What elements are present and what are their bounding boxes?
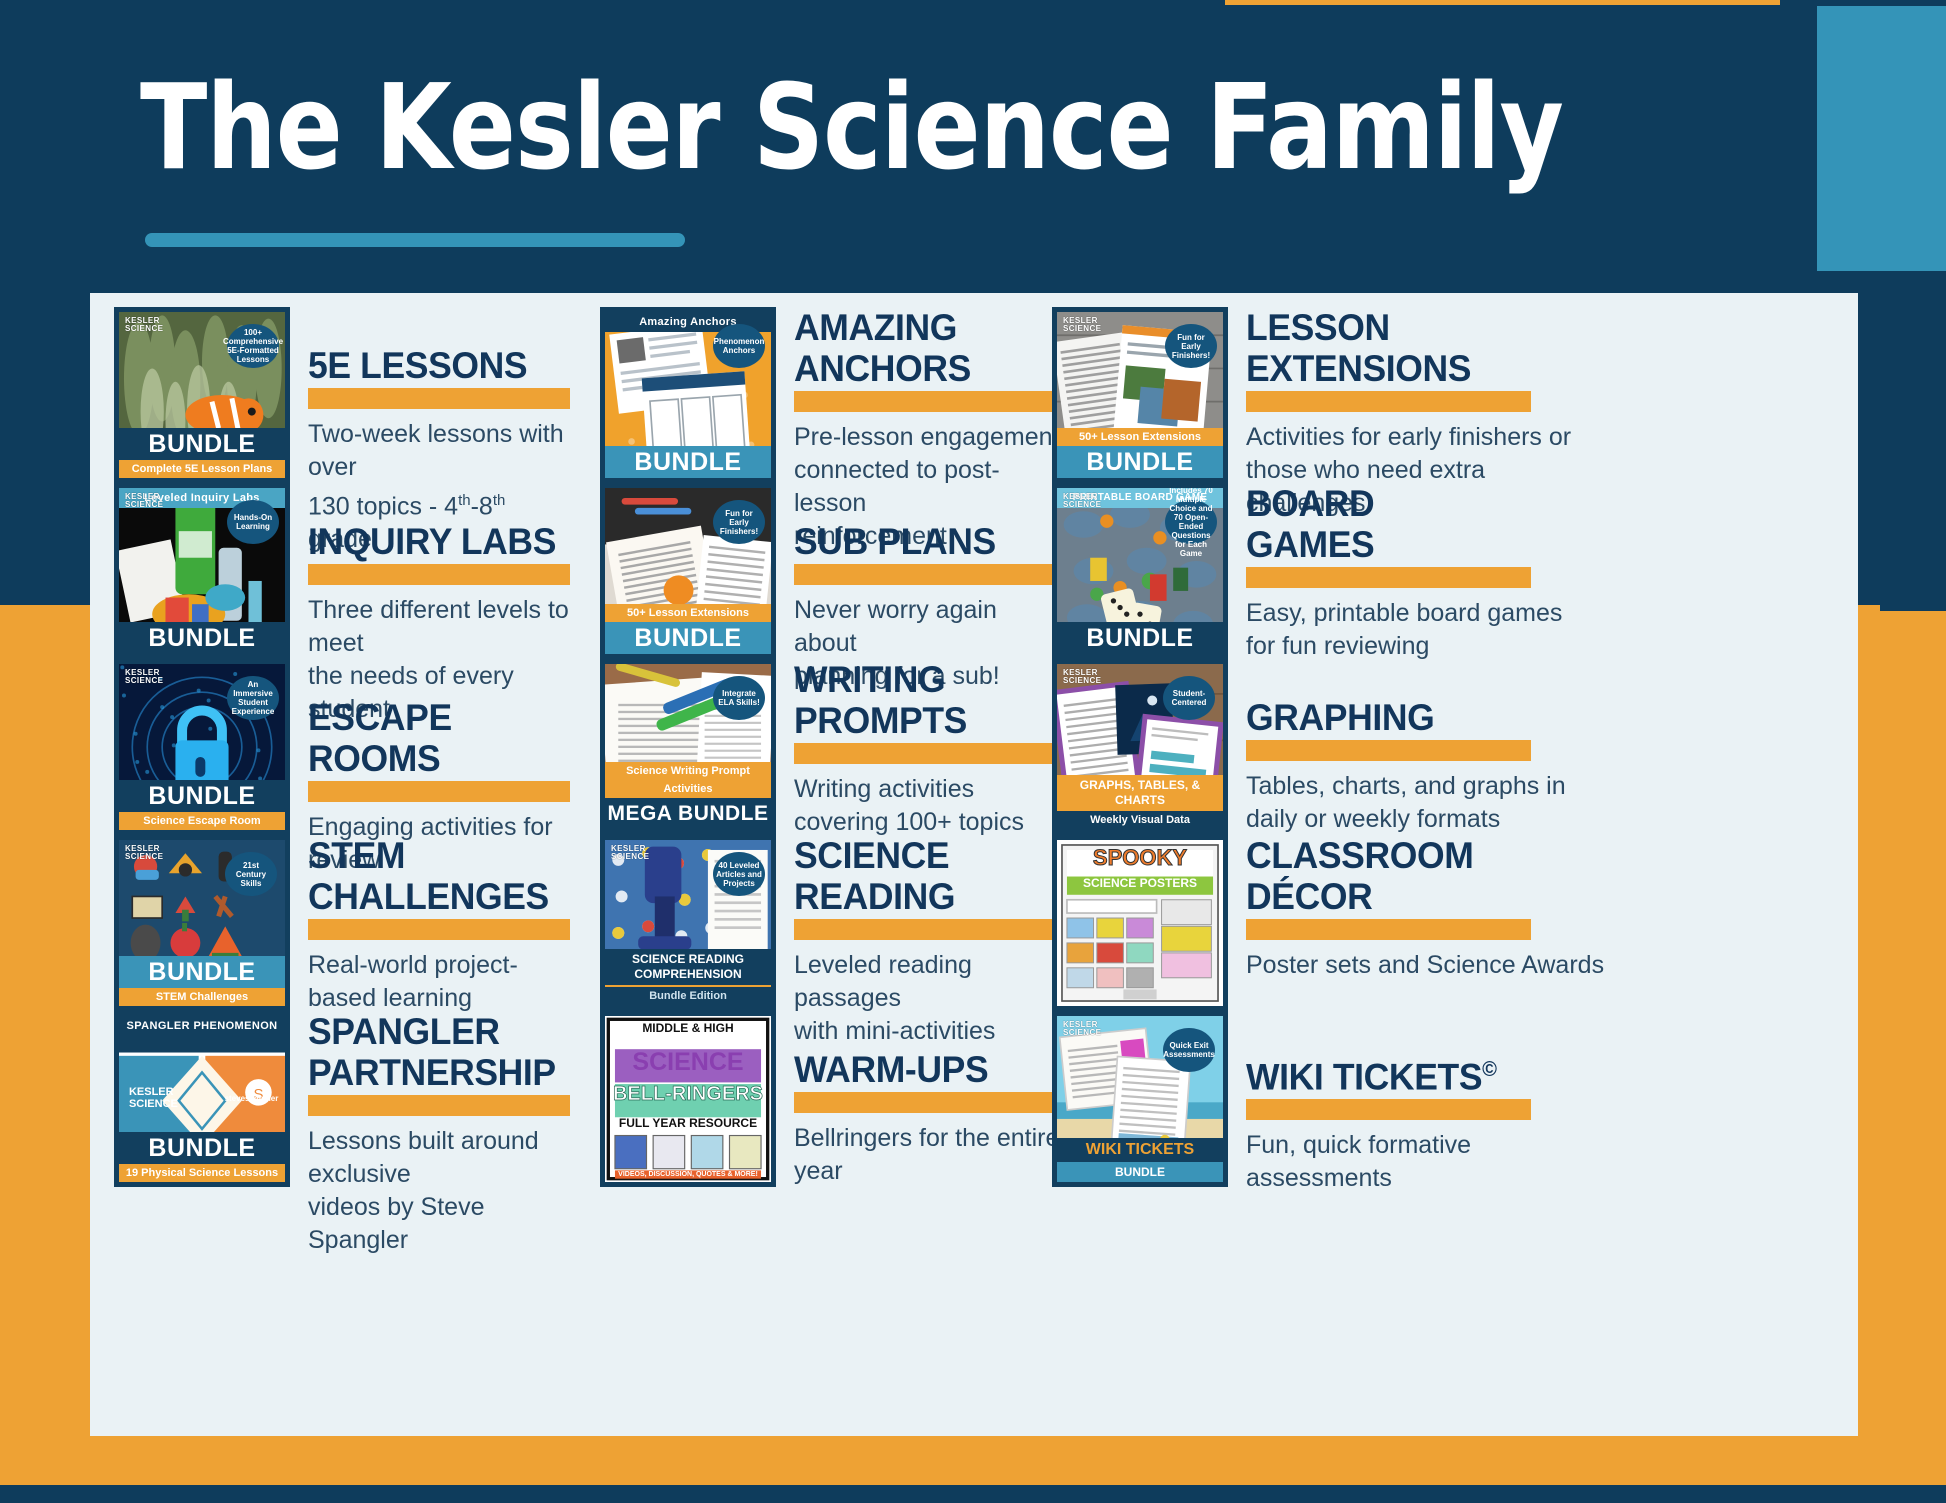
background-navy-right-strip (1880, 271, 1946, 611)
product-thumbnail[interactable]: Amazing AnchorsPhenomenon AnchorsBUNDLE (600, 307, 776, 483)
product-text-block: SPANGLERPARTNERSHIP Lessons built around… (308, 1011, 574, 1257)
product-thumbnail[interactable]: KESLERSCIENCE21st Century SkillsBUNDLEST… (114, 835, 290, 1011)
thumb-caption: GRAPHS, TABLES, & CHARTSWeekly Visual Da… (1057, 775, 1223, 830)
product-description: Real-world project-based learning (308, 949, 574, 1015)
thumb-badge: Includes 70 Multiple Choice and 70 Open-… (1165, 500, 1217, 544)
product-thumbnail[interactable]: MIDDLE & HIGHSCIENCEBELL-RINGERSFULL YEA… (600, 1011, 776, 1187)
product-title-rule (794, 919, 1084, 940)
thumb-badge: Phenomenon Anchors (713, 324, 765, 368)
product-text-block: GRAPHING Tables, charts, and graphs inda… (1246, 659, 1692, 836)
steve-spangler-logo: stevespangler (225, 1094, 279, 1103)
thumb-cover-title: SPOOKY (1065, 847, 1214, 869)
product-title: BOARDGAMES (1246, 483, 1674, 565)
product-title-rule (1246, 740, 1531, 761)
product-description: Lessons built around exclusivevideos by … (308, 1125, 574, 1257)
product-card[interactable]: MIDDLE & HIGHSCIENCEBELL-RINGERSFULL YEA… (600, 1011, 1060, 1188)
product-title-rule (794, 564, 1084, 585)
thumb-caption: BUNDLESTEM Challenges (119, 956, 285, 1006)
kesler-science-logo: KESLERSCIENCE (1063, 493, 1101, 509)
product-thumbnail[interactable]: KESLERSCIENCEStudent-CenteredGRAPHS, TAB… (1052, 659, 1228, 835)
thumb-caption: BUNDLEComplete 5E Lesson Plans (119, 428, 285, 478)
product-title: AMAZINGANCHORS (794, 307, 1049, 389)
product-thumbnail[interactable]: KESLERSCIENCE100+ Comprehensive 5E-Forma… (114, 307, 290, 483)
product-text-block: CLASSROOMDÉCOR Poster sets and Science A… (1246, 835, 1692, 982)
product-title-rule (1246, 391, 1531, 412)
product-description: Poster sets and Science Awards (1246, 949, 1692, 982)
product-title-rule (1246, 1099, 1531, 1120)
product-description: Easy, printable board gamesfor fun revie… (1246, 597, 1692, 663)
product-title: SCIENCEREADING (794, 835, 1049, 917)
product-title-rule (308, 919, 570, 940)
thumb-caption: SCIENCE READING COMPREHENSIONBundle Edit… (605, 949, 771, 1006)
product-description: Bellringers for the entire year (794, 1122, 1060, 1188)
product-title: SPANGLERPARTNERSHIP (308, 1011, 563, 1093)
product-title-rule (794, 391, 1084, 412)
thumb-badge: 21st Century Skills (225, 852, 277, 896)
thumb-caption: BUNDLEScience Escape Room (119, 780, 285, 830)
product-thumbnail[interactable]: KESLERSCIENCE40 Leveled Articles and Pro… (600, 835, 776, 1011)
product-panel: KESLERSCIENCE100+ Comprehensive 5E-Forma… (90, 293, 1858, 1436)
product-thumbnail[interactable]: SPOOKYSCIENCE POSTERS (1052, 835, 1228, 1011)
thumb-caption: Science Writing Prompt ActivitiesMEGA BU… (605, 762, 771, 830)
kesler-science-logo: KESLERSCIENCE (1063, 669, 1101, 685)
product-thumbnail[interactable]: KESLERSCIENCEAn Immersive Student Experi… (114, 659, 290, 835)
product-card[interactable]: KESLERSCIENCE21st Century SkillsBUNDLEST… (114, 835, 574, 1015)
thumb-badge: 100+ Comprehensive 5E-Formatted Lessons (227, 324, 279, 368)
thumb-badge: Quick Exit Assessments (1163, 1028, 1215, 1072)
product-title: INQUIRY LABS (308, 521, 563, 562)
product-card-grid: KESLERSCIENCE100+ Comprehensive 5E-Forma… (90, 293, 1858, 1436)
product-title: ESCAPE ROOMS (308, 697, 563, 779)
product-title-rule (794, 743, 1084, 764)
product-title: WIKI TICKETS© (1246, 1049, 1674, 1097)
product-title: 5E LESSONS (308, 345, 563, 386)
product-thumbnail[interactable]: Integrate ELA Skills!Science Writing Pro… (600, 659, 776, 835)
product-thumbnail[interactable]: Leveled Inquiry LabsKESLERSCIENCEHands-O… (114, 483, 290, 659)
product-text-block: WIKI TICKETS© Fun, quick formativeassess… (1246, 1011, 1692, 1195)
thumb-caption: BUNDLE (1057, 622, 1223, 654)
thumb-cover-footer: VIDEOS, DISCUSSION, QUOTES & MORE! (608, 1170, 767, 1180)
thumb-cover-line1: MIDDLE & HIGH (608, 1021, 767, 1035)
product-text-block: WARM-UPS Bellringers for the entire year (794, 1011, 1060, 1188)
background-navy-bottom-strip (0, 1485, 1946, 1503)
page-title: The Kesler Science Family (140, 68, 1665, 186)
product-card[interactable]: Integrate ELA Skills!Science Writing Pro… (600, 659, 1060, 839)
thumb-cover-line2: SCIENCE (608, 1048, 767, 1076)
background-teal-accent-block (1817, 6, 1946, 271)
product-card[interactable]: PRINTABLE BOARD GAMEKESLERSCIENCEInclude… (1052, 483, 1692, 663)
thumb-caption: BUNDLE (119, 622, 285, 654)
thumb-caption: BUNDLE (605, 446, 771, 478)
thumb-badge: An Immersive Student Experience (227, 676, 279, 720)
thumb-badge: Hands-On Learning (227, 500, 279, 544)
product-title-rule (1246, 567, 1531, 588)
product-thumbnail[interactable]: PRINTABLE BOARD GAMEKESLERSCIENCEInclude… (1052, 483, 1228, 659)
kesler-science-logo: KESLERSCIENCE (611, 845, 649, 861)
product-description: Tables, charts, and graphs indaily or we… (1246, 770, 1692, 836)
product-card[interactable]: KESLERSCIENCEQuick Exit AssessmentsWIKI … (1052, 1011, 1692, 1195)
product-title-rule (1246, 919, 1531, 940)
product-title: WARM-UPS (794, 1049, 1049, 1090)
product-card[interactable]: KESLERSCIENCEStudent-CenteredGRAPHS, TAB… (1052, 659, 1692, 836)
thumb-badge: Fun for Early Finishers! (1165, 324, 1217, 368)
thumb-cover-subtitle: SCIENCE POSTERS (1065, 877, 1214, 890)
product-card[interactable]: SPOOKYSCIENCE POSTERS CLASSROOMDÉCOR Pos… (1052, 835, 1692, 1011)
thumb-cover-title: SPANGLER PHENOMENON (119, 1019, 285, 1033)
thumb-caption: WIKI TICKETSBUNDLE (1057, 1138, 1223, 1182)
product-text-block: STEMCHALLENGES Real-world project-based … (308, 835, 574, 1015)
product-title: SUB PLANS (794, 521, 1049, 562)
thumb-cover-line3: BELL-RINGERS (608, 1082, 767, 1106)
product-description: Writing activitiescovering 100+ topics (794, 773, 1060, 839)
thumb-badge: Integrate ELA Skills! (713, 676, 765, 720)
thumb-caption: BUNDLE19 Physical Science Lessons (119, 1132, 285, 1182)
title-underline-rule (145, 233, 685, 247)
thumb-badge: Fun for Early Finishers! (713, 500, 765, 544)
product-card[interactable]: SSPANGLER PHENOMENONKESLERSCIENCEstevesp… (114, 1011, 574, 1257)
thumb-caption: 50+ Lesson ExtensionsBUNDLE (1057, 428, 1223, 478)
kesler-science-logo: KESLERSCIENCE (125, 669, 163, 685)
kesler-science-logo: KESLERSCIENCE (125, 317, 163, 333)
thumb-caption: 50+ Lesson ExtensionsBUNDLE (605, 604, 771, 654)
product-text-block: BOARDGAMES Easy, printable board gamesfo… (1246, 483, 1692, 663)
product-description: Fun, quick formativeassessments (1246, 1129, 1692, 1195)
product-title: WRITINGPROMPTS (794, 659, 1049, 741)
product-text-block: WRITINGPROMPTS Writing activitiescoverin… (794, 659, 1060, 839)
thumb-badge: Student-Centered (1163, 676, 1215, 720)
product-thumbnail[interactable]: KESLERSCIENCEQuick Exit AssessmentsWIKI … (1052, 1011, 1228, 1187)
product-title-rule (794, 1092, 1084, 1113)
product-title: GRAPHING (1246, 697, 1674, 738)
kesler-science-logo: KESLERSCIENCE (125, 845, 163, 861)
product-title-rule (308, 781, 570, 802)
product-title: STEMCHALLENGES (308, 835, 563, 917)
product-thumbnail[interactable]: SSPANGLER PHENOMENONKESLERSCIENCEstevesp… (114, 1011, 290, 1187)
thumb-badge: 40 Leveled Articles and Projects (713, 852, 765, 896)
product-thumbnail[interactable]: KESLERSCIENCEFun for Early Finishers!50+… (1052, 307, 1228, 483)
kesler-science-logo: KESLERSCIENCE (1063, 1021, 1101, 1037)
background-top-orange-line (1225, 0, 1780, 5)
thumb-cover-line4: FULL YEAR RESOURCE (608, 1116, 767, 1130)
product-title-rule (308, 388, 570, 409)
kesler-science-logo: KESLERSCIENCE (125, 493, 163, 509)
product-thumbnail[interactable]: Fun for Early Finishers!50+ Lesson Exten… (600, 483, 776, 659)
product-title: LESSONEXTENSIONS (1246, 307, 1674, 389)
product-title-rule (308, 1095, 570, 1116)
kesler-science-logo: KESLERSCIENCE (129, 1086, 178, 1110)
kesler-science-logo: KESLERSCIENCE (1063, 317, 1101, 333)
product-title-rule (308, 564, 570, 585)
product-title: CLASSROOMDÉCOR (1246, 835, 1674, 917)
